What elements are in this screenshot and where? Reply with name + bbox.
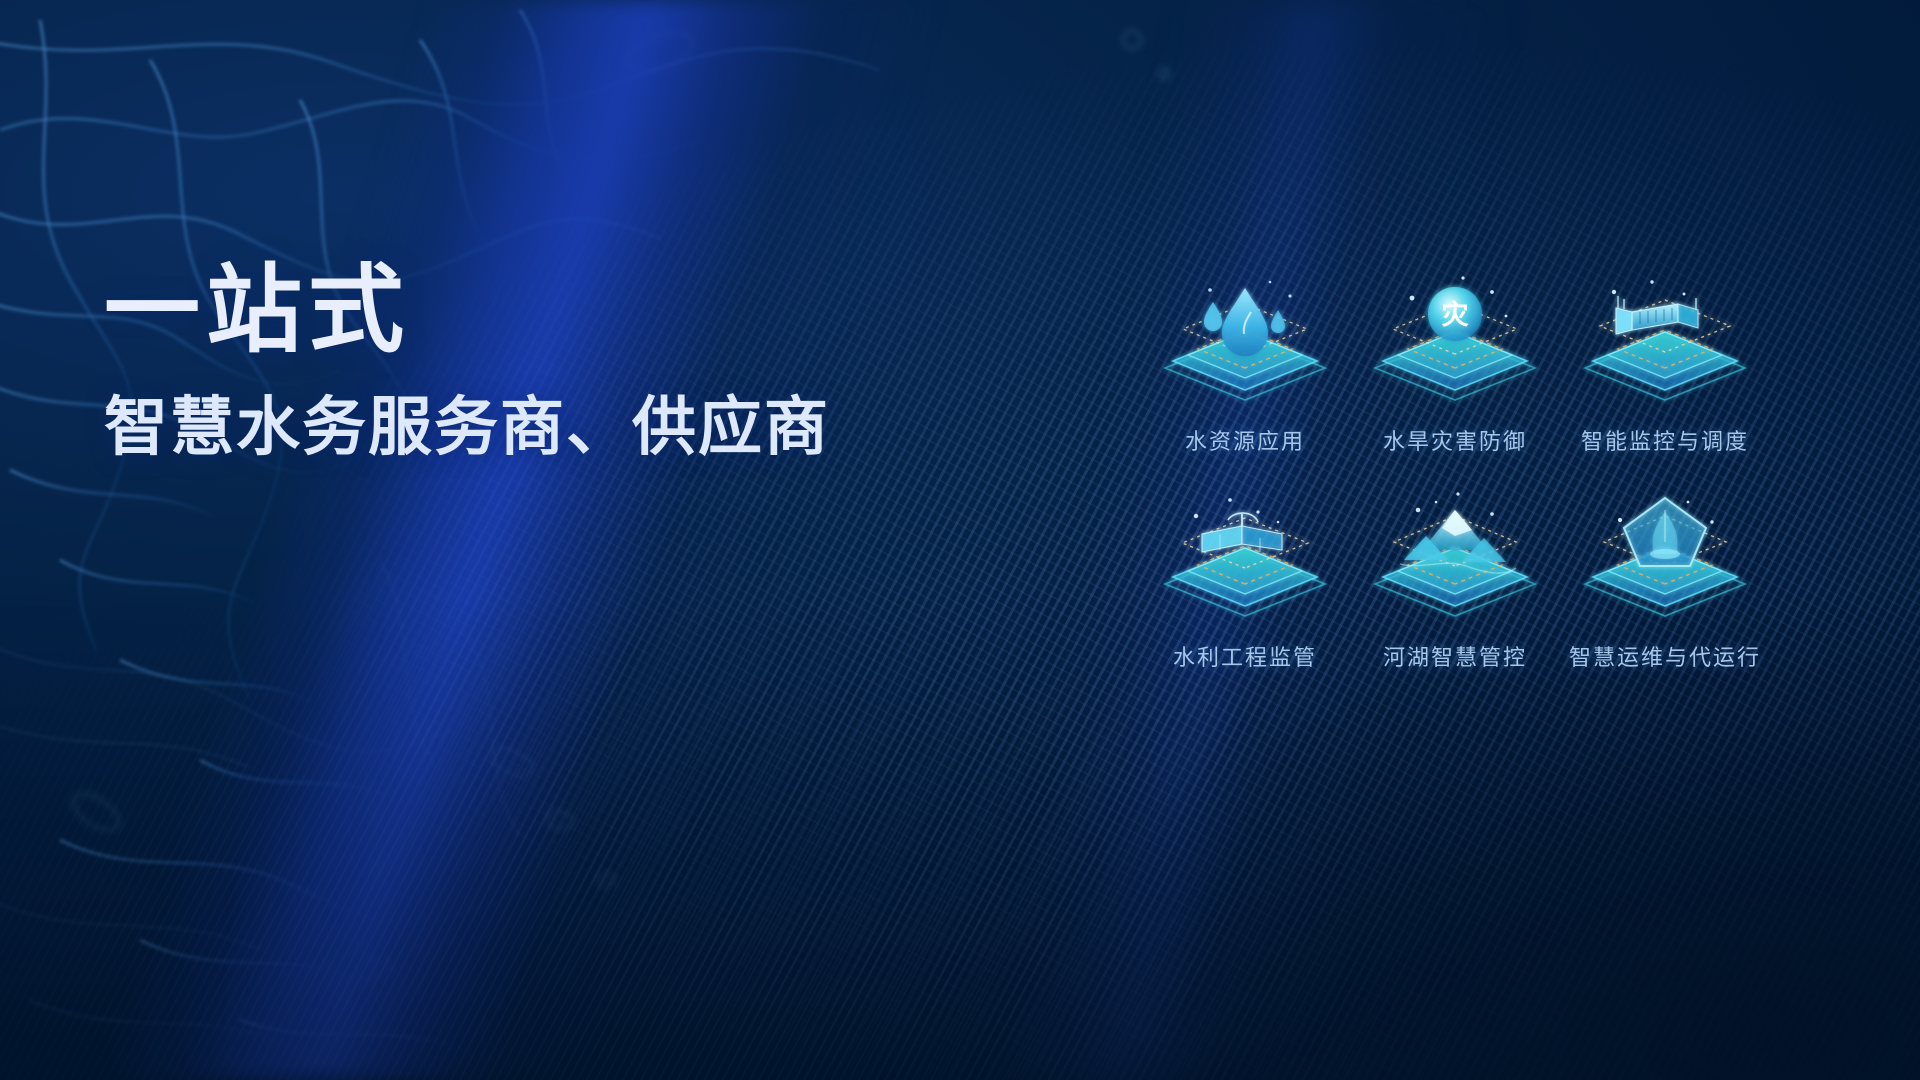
module-label: 水利工程监管 <box>1173 640 1317 672</box>
dam-station-icon <box>1570 268 1760 418</box>
water-drop-icon <box>1150 268 1340 418</box>
module-label: 水旱灾害防御 <box>1383 424 1527 456</box>
hero-copy-block: 一站式 智慧水务服务商、供应商 <box>104 262 984 461</box>
module-card-smart-ops[interactable]: 智慧运维与代运行 <box>1565 484 1765 672</box>
module-card-river-lake[interactable]: 河湖智慧管控 <box>1355 484 1555 672</box>
module-label: 智慧运维与代运行 <box>1569 640 1761 672</box>
page-subtitle: 智慧水务服务商、供应商 <box>104 394 984 461</box>
disaster-sphere-icon: 灾 <box>1360 268 1550 418</box>
disaster-glyph: 灾 <box>1442 299 1469 331</box>
module-label: 水资源应用 <box>1185 424 1305 456</box>
module-card-flood-drought[interactable]: 灾 水旱灾害防御 <box>1355 268 1555 456</box>
page-title: 一站式 <box>104 262 984 360</box>
slide-canvas: 一站式 智慧水务服务商、供应商 <box>0 0 1920 1080</box>
mountain-river-icon <box>1360 484 1550 634</box>
module-label: 河湖智慧管控 <box>1383 640 1527 672</box>
module-card-hydro-project[interactable]: 水利工程监管 <box>1145 484 1345 672</box>
module-label: 智能监控与调度 <box>1581 424 1749 456</box>
module-card-water-resource[interactable]: 水资源应用 <box>1145 268 1345 456</box>
module-card-smart-monitor[interactable]: 智能监控与调度 <box>1565 268 1765 456</box>
module-grid: 水资源应用 <box>1145 268 1765 672</box>
sluice-gate-icon <box>1150 484 1340 634</box>
shield-pentagon-icon <box>1570 484 1760 634</box>
